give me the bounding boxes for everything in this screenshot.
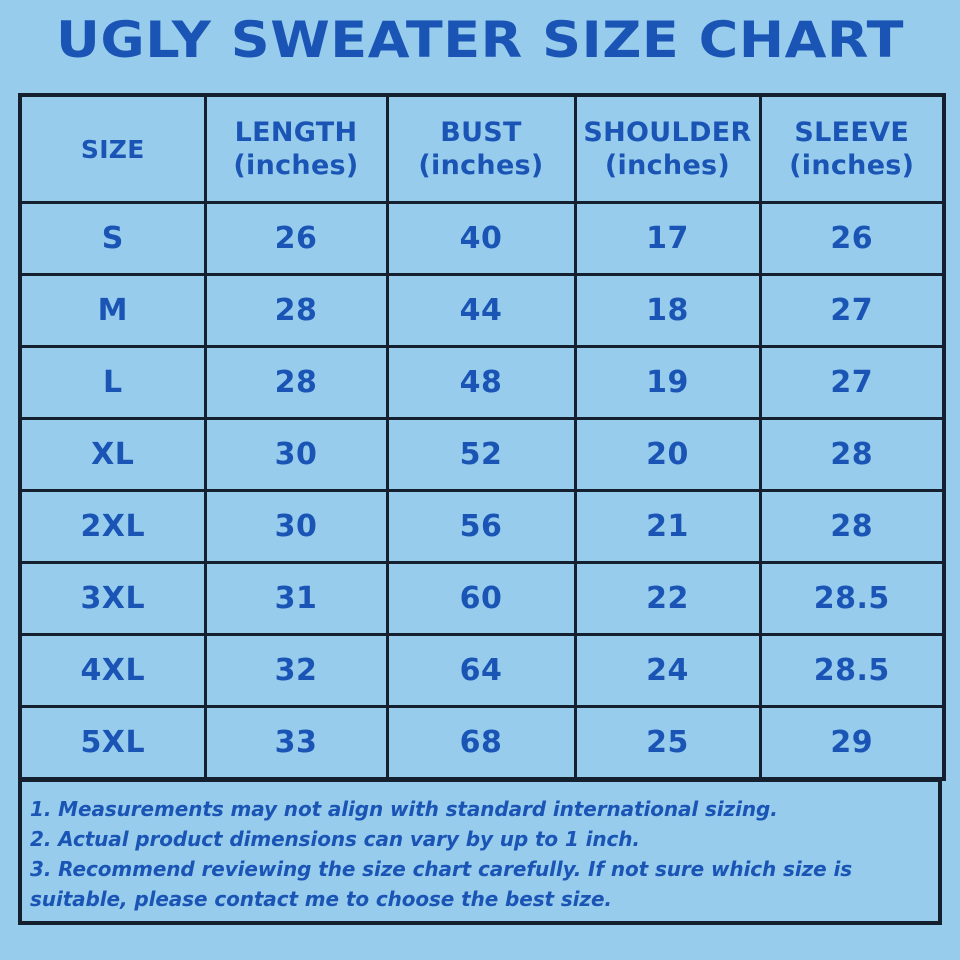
cell-size: L (20, 347, 205, 419)
column-header-shoulder-unit: (inches) (577, 149, 759, 182)
column-header-bust-label: BUST (440, 117, 522, 148)
cell-sleeve: 28.5 (760, 563, 944, 635)
table-row: M 28 44 18 27 (20, 275, 944, 347)
cell-bust: 56 (387, 491, 575, 563)
header-row: SIZE LENGTH (inches) BUST (inches) SHOUL… (20, 95, 944, 203)
cell-shoulder: 24 (575, 635, 760, 707)
cell-bust: 52 (387, 419, 575, 491)
cell-shoulder: 21 (575, 491, 760, 563)
cell-length: 32 (205, 635, 387, 707)
cell-shoulder: 22 (575, 563, 760, 635)
cell-sleeve: 27 (760, 347, 944, 419)
cell-shoulder: 18 (575, 275, 760, 347)
table-row: 2XL 30 56 21 28 (20, 491, 944, 563)
note-item-1: 1. Measurements may not align with stand… (30, 794, 928, 824)
column-header-sleeve-label: SLEEVE (794, 117, 909, 148)
cell-bust: 60 (387, 563, 575, 635)
cell-sleeve: 28.5 (760, 635, 944, 707)
table-row: S 26 40 17 26 (20, 203, 944, 275)
cell-length: 28 (205, 347, 387, 419)
cell-length: 30 (205, 419, 387, 491)
cell-length: 30 (205, 491, 387, 563)
column-header-sleeve-unit: (inches) (762, 149, 943, 182)
cell-bust: 44 (387, 275, 575, 347)
table-row: XL 30 52 20 28 (20, 419, 944, 491)
table-body: S 26 40 17 26 M 28 44 18 27 L 28 48 19 2… (20, 203, 944, 780)
column-header-length: LENGTH (inches) (205, 95, 387, 203)
notes-box: 1. Measurements may not align with stand… (18, 778, 942, 925)
page-title: UGLY SWEATER SIZE CHART (0, 8, 960, 72)
cell-sleeve: 29 (760, 707, 944, 780)
column-header-shoulder-label: SHOULDER (583, 117, 751, 148)
table-row: 5XL 33 68 25 29 (20, 707, 944, 780)
table-row: 3XL 31 60 22 28.5 (20, 563, 944, 635)
cell-sleeve: 28 (760, 491, 944, 563)
cell-sleeve: 27 (760, 275, 944, 347)
cell-size: 4XL (20, 635, 205, 707)
column-header-sleeve: SLEEVE (inches) (760, 95, 944, 203)
cell-size: S (20, 203, 205, 275)
cell-length: 33 (205, 707, 387, 780)
column-header-size-label: SIZE (81, 135, 145, 164)
note-item-3: 3. Recommend reviewing the size chart ca… (30, 854, 928, 914)
table-row: L 28 48 19 27 (20, 347, 944, 419)
size-chart-table: SIZE LENGTH (inches) BUST (inches) SHOUL… (18, 93, 946, 781)
note-item-2: 2. Actual product dimensions can vary by… (30, 824, 928, 854)
cell-length: 26 (205, 203, 387, 275)
cell-size: M (20, 275, 205, 347)
cell-bust: 64 (387, 635, 575, 707)
cell-shoulder: 25 (575, 707, 760, 780)
column-header-length-label: LENGTH (235, 117, 358, 148)
column-header-size: SIZE (20, 95, 205, 203)
table-row: 4XL 32 64 24 28.5 (20, 635, 944, 707)
cell-sleeve: 28 (760, 419, 944, 491)
size-chart-page: UGLY SWEATER SIZE CHART SIZE LENGTH (inc… (0, 0, 960, 960)
cell-bust: 68 (387, 707, 575, 780)
cell-shoulder: 20 (575, 419, 760, 491)
column-header-bust-unit: (inches) (389, 149, 574, 182)
cell-length: 31 (205, 563, 387, 635)
column-header-shoulder: SHOULDER (inches) (575, 95, 760, 203)
cell-length: 28 (205, 275, 387, 347)
cell-shoulder: 17 (575, 203, 760, 275)
cell-shoulder: 19 (575, 347, 760, 419)
cell-sleeve: 26 (760, 203, 944, 275)
cell-bust: 40 (387, 203, 575, 275)
cell-size: 5XL (20, 707, 205, 780)
cell-size: 2XL (20, 491, 205, 563)
column-header-bust: BUST (inches) (387, 95, 575, 203)
cell-size: XL (20, 419, 205, 491)
column-header-length-unit: (inches) (207, 149, 386, 182)
table-header: SIZE LENGTH (inches) BUST (inches) SHOUL… (20, 95, 944, 203)
cell-size: 3XL (20, 563, 205, 635)
cell-bust: 48 (387, 347, 575, 419)
